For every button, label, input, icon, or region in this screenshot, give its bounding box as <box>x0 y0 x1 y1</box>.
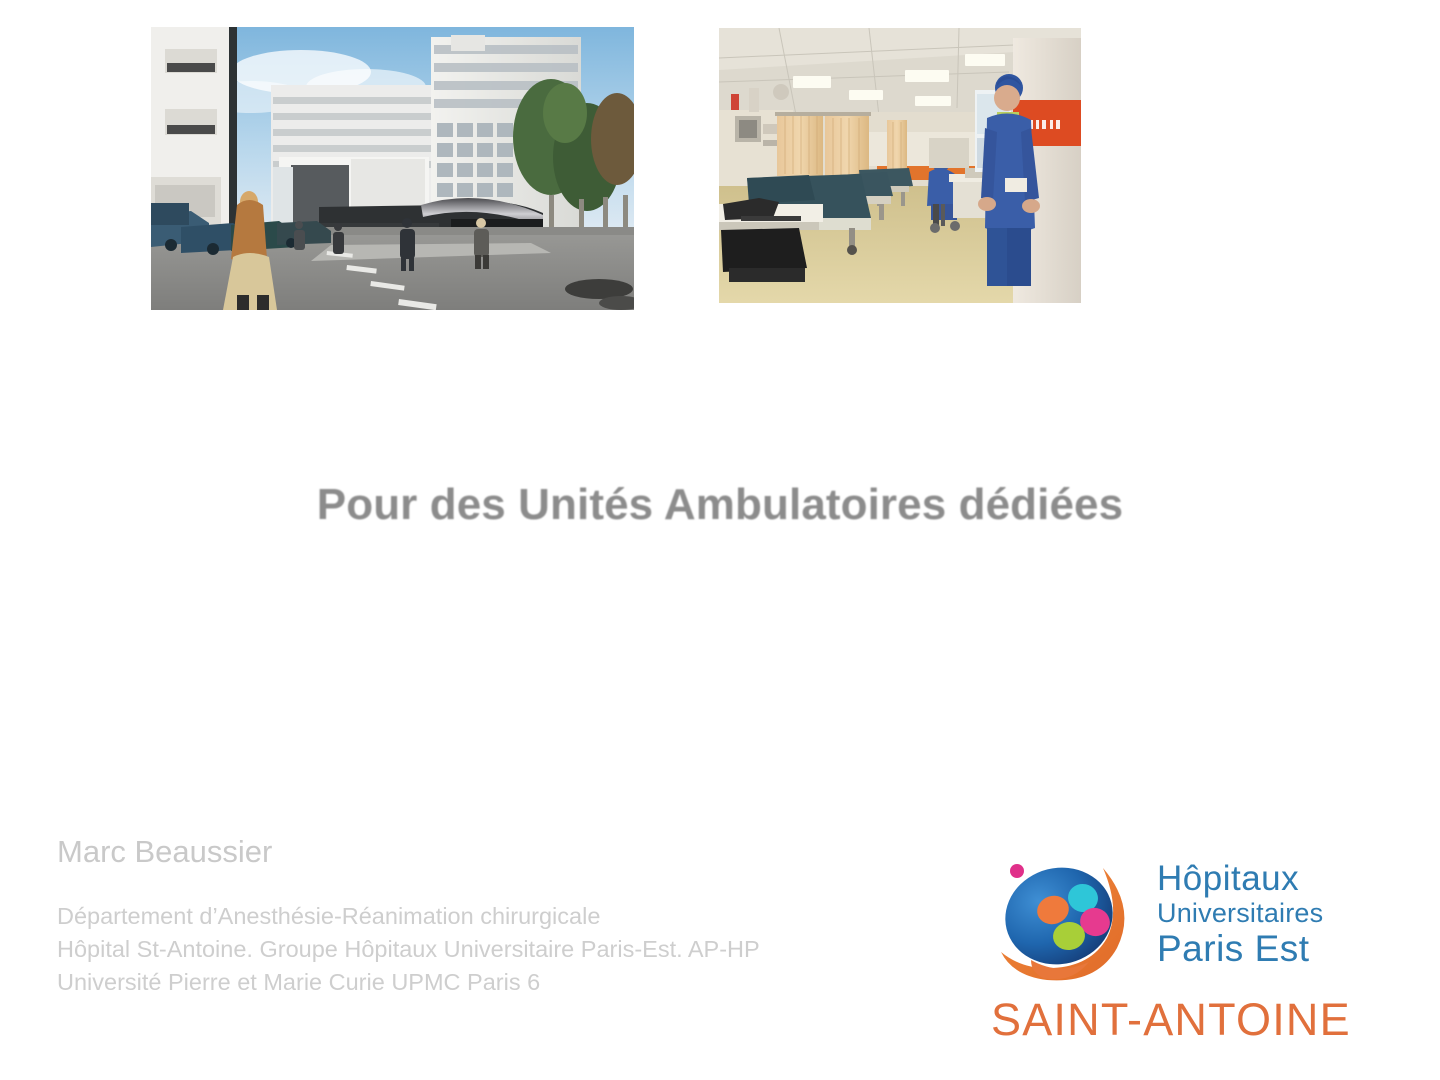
logo-line-paris-est: Paris Est <box>1157 930 1323 967</box>
author-block: Marc Beaussier Département d’Anesthésie-… <box>57 834 957 1000</box>
logo-line-hopitaux: Hôpitaux <box>1157 861 1323 896</box>
hospital-logo: Hôpitaux Universitaires Paris Est SAINT-… <box>985 852 1360 1047</box>
logo-line-universitaires: Universitaires <box>1157 900 1323 927</box>
affiliation-line-3: Université Pierre et Marie Curie UPMC Pa… <box>57 966 957 999</box>
logo-site-name: SAINT-ANTOINE <box>991 994 1351 1046</box>
affiliation-line-2: Hôpital St-Antoine. Groupe Hôpitaux Univ… <box>57 933 957 966</box>
ambulatory-ward-image <box>719 28 1081 303</box>
page-title: Pour des Unités Ambulatoires dédiées <box>0 480 1440 530</box>
logo-sphere-icon <box>985 852 1145 992</box>
author-affiliation: Département d’Anesthésie-Réanimation chi… <box>57 900 957 1000</box>
slide-canvas: Pour des Unités Ambulatoires dédiées Mar… <box>0 0 1440 1080</box>
affiliation-line-1: Département d’Anesthésie-Réanimation chi… <box>57 900 957 933</box>
logo-wordmark: Hôpitaux Universitaires Paris Est <box>1157 861 1323 967</box>
hospital-building-image <box>151 27 634 310</box>
author-name: Marc Beaussier <box>57 834 957 870</box>
